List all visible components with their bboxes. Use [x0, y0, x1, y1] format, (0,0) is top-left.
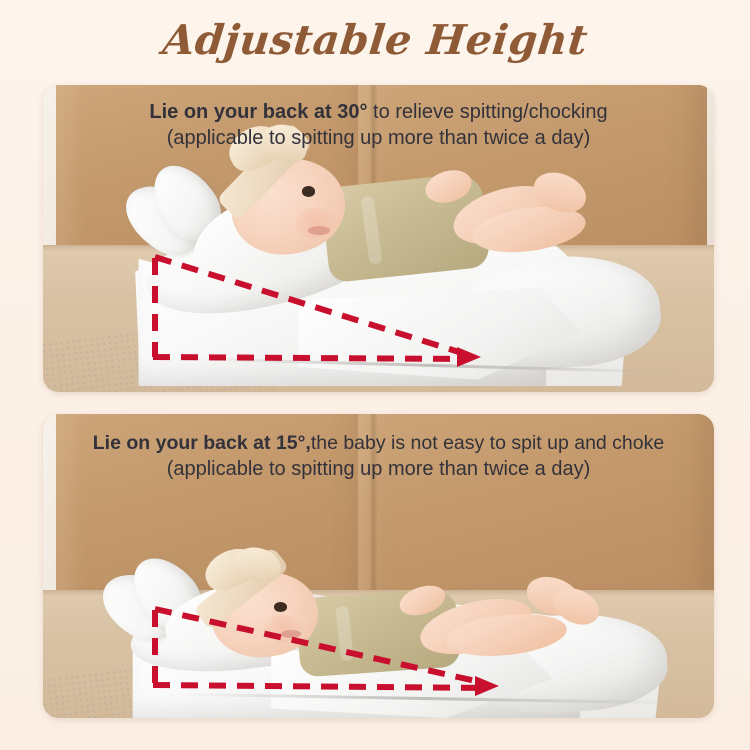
baby-eye — [302, 186, 315, 196]
caption-line-2: (applicable to spitting up more than twi… — [53, 456, 704, 483]
product-infographic: Adjustable Height — [0, 0, 750, 750]
page-title: Adjustable Height — [0, 16, 750, 64]
caption-rest-text: to relieve spitting/chocking — [367, 101, 607, 123]
caption-15-degree: Lie on your back at 15°,the baby is not … — [43, 430, 714, 483]
panel-30-degree: Lie on your back at 30° to relieve spitt… — [43, 85, 714, 392]
caption-line-2: (applicable to spitting up more than twi… — [53, 125, 704, 152]
caption-strong-text: Lie on your back at 15°, — [93, 432, 311, 454]
baby-mouth — [281, 630, 301, 638]
caption-rest-text: the baby is not easy to spit up and chok… — [311, 432, 664, 454]
baby-cheek — [264, 615, 301, 642]
caption-line-1: Lie on your back at 15°,the baby is not … — [53, 430, 704, 456]
page-title-text: Adjustable Height — [160, 16, 590, 64]
baby-eye — [274, 602, 287, 611]
caption-strong-text: Lie on your back at 30° — [149, 101, 367, 123]
caption-line-1: Lie on your back at 30° to relieve spitt… — [53, 99, 704, 125]
panel-15-degree: Lie on your back at 15°,the baby is not … — [43, 414, 714, 718]
caption-30-degree: Lie on your back at 30° to relieve spitt… — [43, 99, 714, 152]
